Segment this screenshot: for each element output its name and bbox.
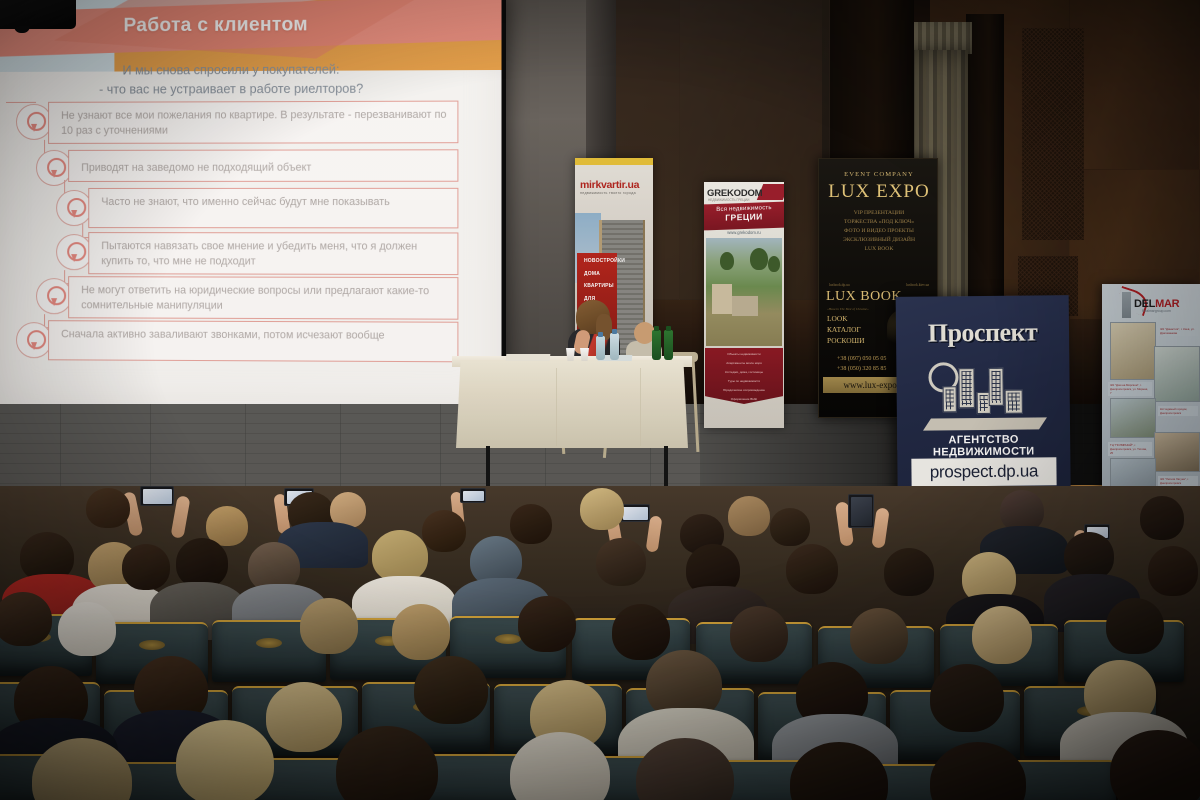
lux-service-2: ТОРЖЕСТВА «ПОД КЛЮЧ» <box>819 218 938 227</box>
wall-pillar <box>822 0 914 160</box>
lux-book-slogan: «Наш in The Best of Ukraine» <box>827 307 869 311</box>
audience-head <box>1064 532 1114 580</box>
slide-bullet-1: Не узнают все мои пожелания по квартире.… <box>48 101 458 144</box>
phone-device <box>620 504 650 522</box>
city-base-plate <box>923 417 1047 430</box>
lux-book-title: LUX BOOK <box>826 289 902 305</box>
location-pin-icon <box>67 242 82 262</box>
grekodom-url: www.grekodom.ru <box>704 230 784 235</box>
photo-tree <box>768 256 780 272</box>
slide-timeline: Не узнают все мои пожелания по квартире.… <box>22 100 489 101</box>
slide-bullet-6: Сначала активно заваливают звонками, пот… <box>48 320 458 362</box>
water-bottle <box>610 333 619 360</box>
location-pin-icon <box>27 330 42 350</box>
grekodom-band: Вся недвижимость ГРЕЦИИ <box>704 202 784 231</box>
lux-service-5: LUX BOOK <box>819 245 938 254</box>
audience-head <box>884 548 934 596</box>
audience-head <box>518 596 576 652</box>
delmar-caption: Коттеджный городок, Днепропетровск <box>1158 406 1198 416</box>
delmar-photo <box>1110 398 1156 438</box>
lux-services: VIP ПРЕЗЕНТАЦИИ ТОРЖЕСТВА «ПОД КЛЮЧ» ФОТ… <box>819 209 938 254</box>
mk-line-3: КВАРТИРЫ <box>577 278 617 291</box>
lux-service-3: ФОТО И ВИДЕО ПРОЕКТЫ <box>819 227 938 236</box>
audience-head <box>0 592 52 646</box>
lux-phone-2: +38 (050) 320 85 85 <box>837 365 886 375</box>
pin-icon-6 <box>16 322 52 358</box>
wall-panel <box>1070 0 1200 170</box>
pin-icon-3 <box>56 190 92 226</box>
pin-icon-5 <box>36 278 72 314</box>
gk-service-7: Управление недвижимостью <box>705 402 783 411</box>
audience-head <box>850 608 908 664</box>
audience-head <box>176 538 228 588</box>
projection-screen: Работа с клиентом И мы снова спросили у … <box>0 0 502 409</box>
audience-head <box>176 720 274 800</box>
green-bottle <box>652 330 661 360</box>
audience-head <box>58 602 116 656</box>
lux-word-1: LOOK <box>827 313 864 324</box>
prospekt-url: prospect.dp.ua <box>930 461 1038 482</box>
grekodom-landscape-photo <box>706 238 782 346</box>
prospekt-subtitle: АГЕНТСТВО НЕДВИЖИМОСТИ <box>897 433 1070 459</box>
papers-on-table <box>506 354 551 361</box>
photo-house <box>712 284 732 314</box>
photo-house <box>732 296 758 316</box>
delmar-photo <box>1110 322 1156 380</box>
lux-phone-1: +38 (097) 050 05 05 <box>837 355 886 365</box>
audience-head <box>730 606 788 662</box>
gk-service-4: Туры по недвижимости <box>705 375 783 384</box>
delmar-photo <box>1154 432 1200 472</box>
lux-word-3: РОСКОШИ <box>827 335 864 346</box>
wall-pillar <box>966 14 1004 314</box>
mirkvartir-tagline: недвижимость твоего города <box>580 191 650 195</box>
building-shape <box>958 368 974 408</box>
slide-bullet-4: Пытаются навязать свое мнение и убедить … <box>88 232 458 275</box>
audience-head <box>728 496 770 536</box>
mk-line-1: НОВОСТРОЙКИ <box>577 253 617 266</box>
prospekt-url-box: prospect.dp.ua <box>911 457 1056 487</box>
delmar-caption: ЖК "Летняя Лагуна", г. Днепропетровск <box>1158 476 1198 486</box>
audience-head <box>422 510 466 552</box>
photo-tree <box>720 252 734 270</box>
raised-arm <box>871 507 889 548</box>
green-bottle <box>664 330 673 360</box>
lux-logo: LUX EXPO <box>819 181 938 203</box>
audience-head <box>596 538 646 586</box>
banner-top-bar <box>575 158 653 165</box>
lux-book-url-left: luxbook.dp.ua <box>829 283 850 287</box>
timeline-tick <box>6 102 36 103</box>
audience-head <box>266 682 342 752</box>
lux-phone-numbers: +38 (097) 050 05 05 +38 (050) 320 85 85 <box>837 355 886 374</box>
location-pin-icon <box>47 286 62 306</box>
lux-book-words: LOOK КАТАЛОГ РОСКОШИ <box>827 313 864 346</box>
location-pin-icon <box>47 158 62 178</box>
prospekt-logo: Проспект <box>896 317 1069 349</box>
audience-head <box>372 530 428 582</box>
slide-subtitle: И мы снова спросили у покупателей: - что… <box>0 60 471 100</box>
projection-screen-frame: Работа с клиентом И мы снова спросили у … <box>0 0 506 419</box>
slide-subtitle-line1: И мы снова спросили у покупателей: <box>122 63 339 78</box>
slide-bullet-3: Часто не знают, что именно сейчас будут … <box>88 188 458 229</box>
delmar-caption: ЖК "Дом на Мирском", г. Днепропетровск, … <box>1108 382 1152 396</box>
phone-device <box>848 494 874 528</box>
building-shape <box>988 368 1003 406</box>
audience-area <box>0 486 1200 800</box>
table-cloth <box>456 360 688 448</box>
audience-head <box>86 488 130 528</box>
lux-book-url-right: luxbook.kiev.ua <box>906 283 929 287</box>
table-leg <box>486 446 490 488</box>
audience-head <box>1106 598 1164 654</box>
audience-head <box>930 664 1004 732</box>
audience-head <box>414 656 488 724</box>
slide-bullet-5: Не могут ответить на юридические вопросы… <box>68 276 458 320</box>
gk-service-1: Объекты недвижимости <box>705 348 783 357</box>
lux-service-1: VIP ПРЕЗЕНТАЦИИ <box>819 209 938 218</box>
audience-head <box>1140 496 1184 540</box>
audience-head <box>972 606 1032 664</box>
audience-head <box>122 544 170 590</box>
grekodom-subtitle: НЕДВИЖИМОСТЬ ГРЕЦИИ <box>708 198 749 202</box>
mk-line-2: ДОМА <box>577 266 617 279</box>
banner-grekodom: GREKODOM НЕДВИЖИМОСТЬ ГРЕЦИИ Вся недвижи… <box>704 182 784 428</box>
lux-eyebrow: EVENT COMPANY <box>819 171 938 178</box>
prospekt-city-graphic <box>926 359 1043 422</box>
phone-device <box>460 488 486 503</box>
lux-word-2: КАТАЛОГ <box>827 324 864 335</box>
gk-service-3: Коттеджи, дома, гостиницы <box>705 366 783 375</box>
slide-subtitle-line2: - что вас не устраивает в работе риелтор… <box>0 79 471 100</box>
delmar-caption: ТЦ "ПОЛЯРНЫЙ", г. Днепропетровск, ул. Ти… <box>1108 442 1152 456</box>
pin-icon-1 <box>16 104 52 140</box>
building-shape <box>1005 390 1023 414</box>
paper-cup <box>580 348 589 361</box>
audience-head <box>1148 546 1198 596</box>
lux-service-4: ЭКСКЛЮЗИВНЫЙ ДИЗАЙН <box>819 236 938 245</box>
gk-service-5: Юридическое сопровождение <box>705 384 783 393</box>
audience-head <box>612 604 670 660</box>
acoustic-grille <box>1022 28 1084 240</box>
mirkvartir-logo: mirkvartir.ua <box>580 179 650 191</box>
photo-tree <box>750 248 768 270</box>
audience-head <box>510 504 552 544</box>
slide-bullet-2: Приводят на заведомо не подходящий объек… <box>68 149 458 182</box>
audience-head <box>580 488 624 530</box>
audience-head <box>392 604 450 660</box>
paper-cup <box>566 348 575 361</box>
delmar-subtitle: Realmargroup.com <box>1142 309 1171 313</box>
phone-device <box>140 486 174 506</box>
ceiling-speaker <box>0 0 76 29</box>
location-pin-icon <box>27 112 42 132</box>
audience-head <box>300 598 358 654</box>
gk-service-2: Апартаменты возле моря <box>705 357 783 366</box>
water-bottle <box>596 336 605 360</box>
building-shape <box>943 386 957 412</box>
audience-head <box>770 508 810 546</box>
conference-hall-scene: Работа с клиентом И мы снова спросили у … <box>0 0 1200 800</box>
delmar-photo <box>1154 346 1200 402</box>
audience-head <box>786 544 838 594</box>
grekodom-services-list: Объекты недвижимости Апартаменты возле м… <box>705 348 783 404</box>
delmar-caption: ЖК "Династия", г. Киев, ул. Драгоманова <box>1158 326 1198 336</box>
location-pin-icon <box>67 198 82 218</box>
gk-service-6: Оформление ВНЖ <box>705 393 783 402</box>
pin-icon-4 <box>56 234 92 270</box>
